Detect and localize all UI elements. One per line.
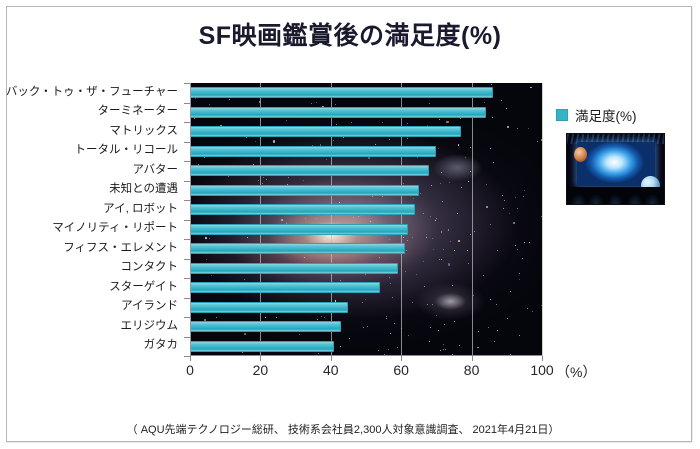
category-label: エリジウム bbox=[121, 321, 179, 332]
x-axis-unit-label: （%） bbox=[556, 362, 596, 382]
audience-silhouette bbox=[567, 187, 664, 204]
bar bbox=[190, 341, 334, 352]
bar bbox=[190, 87, 493, 98]
bar bbox=[190, 126, 461, 137]
bar-row bbox=[190, 243, 405, 254]
category-label: バック・トゥ・ザ・フューチャー bbox=[6, 87, 178, 98]
bar bbox=[190, 204, 415, 215]
chart-page: SF映画鑑賞後の満足度(%) バック・トゥ・ザ・フューチャーターミネーターマトリ… bbox=[0, 0, 700, 449]
bar bbox=[190, 185, 419, 196]
cinema-screen-photo bbox=[566, 133, 665, 205]
category-label: マトリックス bbox=[109, 126, 178, 137]
category-label: アイランド bbox=[121, 301, 178, 312]
bar-row bbox=[190, 185, 419, 196]
category-label: ターミネーター bbox=[98, 106, 179, 117]
bar-row bbox=[190, 107, 486, 118]
x-tick bbox=[331, 356, 332, 361]
y-tick bbox=[184, 239, 190, 240]
plot-area bbox=[190, 83, 542, 356]
bar-series bbox=[190, 83, 542, 356]
x-tick bbox=[401, 356, 402, 361]
y-axis-line bbox=[190, 83, 191, 356]
x-tick-label: 20 bbox=[253, 362, 269, 378]
x-tick bbox=[472, 356, 473, 361]
bar bbox=[190, 321, 341, 332]
y-tick bbox=[184, 298, 190, 299]
x-tick-label: 0 bbox=[186, 362, 194, 378]
category-label: コンタクト bbox=[121, 262, 179, 273]
category-label: トータル・リコール bbox=[75, 145, 179, 156]
x-tick-label: 80 bbox=[464, 362, 480, 378]
bar-row bbox=[190, 146, 436, 157]
y-tick bbox=[184, 259, 190, 260]
bar bbox=[190, 243, 405, 254]
bar-row bbox=[190, 263, 398, 274]
y-tick bbox=[184, 83, 190, 84]
source-note: （ AQU先端テクノロジー総研、 技術系会社員2,300人対象意識調査、 202… bbox=[0, 421, 686, 437]
x-tick bbox=[190, 356, 191, 361]
x-tick-label: 100 bbox=[530, 362, 553, 378]
category-label: スターゲイト bbox=[109, 282, 178, 293]
bar bbox=[190, 107, 486, 118]
bar bbox=[190, 165, 429, 176]
bar bbox=[190, 302, 348, 313]
bar-row bbox=[190, 321, 341, 332]
y-tick bbox=[184, 181, 190, 182]
bar-row bbox=[190, 302, 348, 313]
x-tick-label: 60 bbox=[393, 362, 409, 378]
x-tick bbox=[542, 356, 543, 361]
bar-row bbox=[190, 87, 493, 98]
y-tick bbox=[184, 278, 190, 279]
planet-small-icon bbox=[574, 147, 587, 162]
y-tick bbox=[184, 103, 190, 104]
legend-swatch-icon bbox=[556, 109, 568, 121]
y-tick bbox=[184, 220, 190, 221]
x-tick bbox=[260, 356, 261, 361]
bar bbox=[190, 146, 436, 157]
legend-label: 満足度(%) bbox=[575, 105, 637, 125]
gridline-100 bbox=[542, 83, 543, 356]
category-axis-labels: バック・トゥ・ザ・フューチャーターミネーターマトリックストータル・リコールアバタ… bbox=[0, 83, 184, 356]
legend: 満足度(%) bbox=[556, 105, 686, 125]
y-tick bbox=[184, 161, 190, 162]
y-tick bbox=[184, 200, 190, 201]
category-label: フィフス・エレメント bbox=[63, 243, 178, 254]
bar-row bbox=[190, 224, 408, 235]
bar-row bbox=[190, 165, 429, 176]
category-label: マイノリティ・リポート bbox=[52, 223, 178, 234]
page-title: SF映画鑑賞後の満足度(%) bbox=[0, 16, 700, 52]
y-axis-ticks bbox=[184, 83, 190, 356]
bar-row bbox=[190, 341, 334, 352]
bar-row bbox=[190, 126, 461, 137]
category-label: 未知との遭遇 bbox=[109, 184, 178, 195]
bar bbox=[190, 224, 408, 235]
category-label: ガタカ bbox=[144, 340, 179, 351]
bar-row bbox=[190, 282, 380, 293]
y-tick bbox=[184, 122, 190, 123]
y-tick bbox=[184, 142, 190, 143]
x-tick-label: 40 bbox=[323, 362, 339, 378]
bar-row bbox=[190, 204, 415, 215]
y-tick bbox=[184, 317, 190, 318]
y-tick bbox=[184, 337, 190, 338]
category-label: アバター bbox=[132, 165, 178, 176]
category-label: アイ, ロボット bbox=[103, 204, 178, 215]
bar bbox=[190, 263, 398, 274]
bar bbox=[190, 282, 380, 293]
